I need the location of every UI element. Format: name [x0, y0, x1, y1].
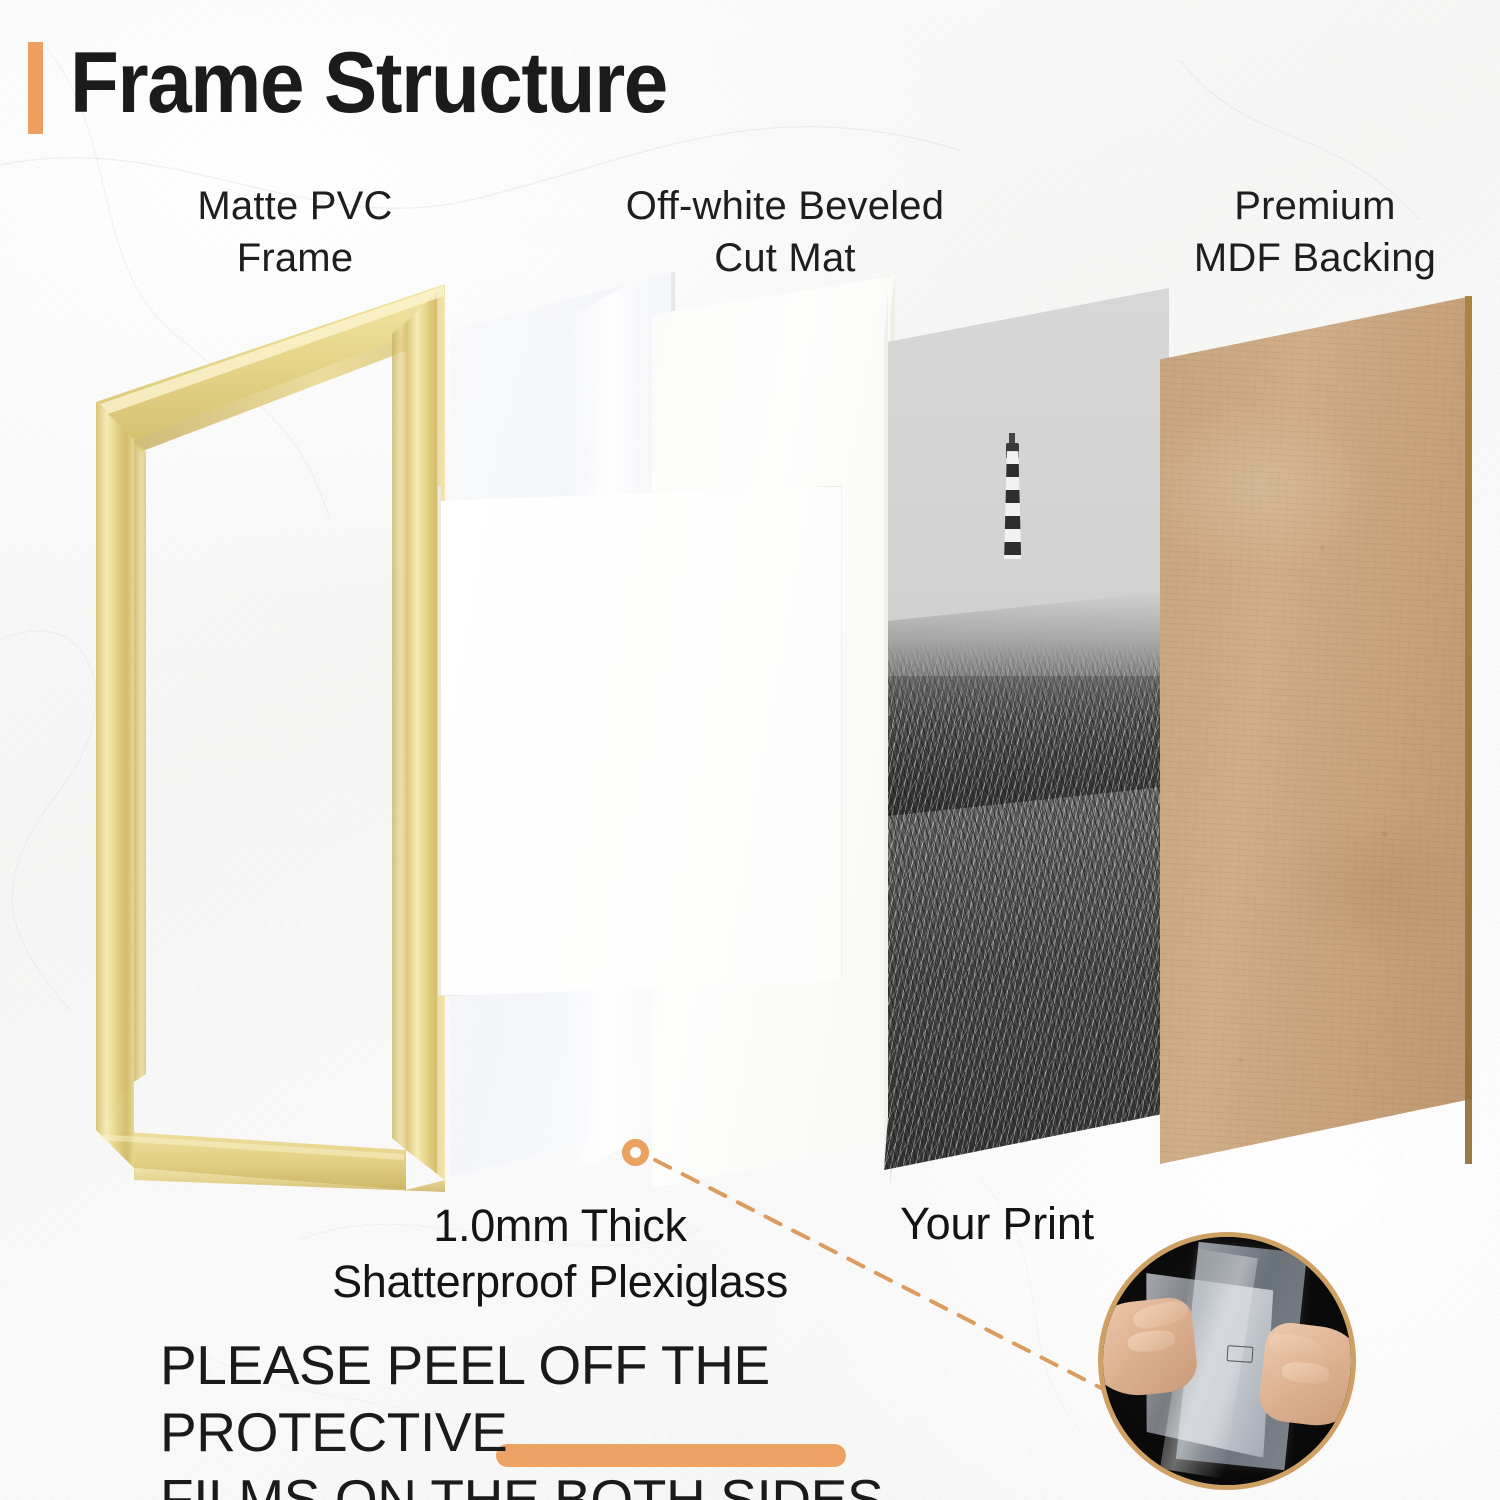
layer-matte-pvc-frame [88, 262, 453, 1202]
gold-frame-illustration [88, 262, 453, 1202]
print-edge [884, 288, 888, 1170]
lighthouse-icon [995, 429, 1029, 559]
infographic-stage: Frame Structure Matte PVC Frame Off-whit… [0, 0, 1500, 1500]
film-warning-label-icon [1226, 1345, 1253, 1363]
caption-shatterproof-plexiglass: 1.0mm Thick Shatterproof Plexiglass [290, 1198, 830, 1311]
layer-mdf-backing [1160, 296, 1472, 1164]
photo-dune-grass [884, 641, 1169, 1170]
caption-off-white-beveled-cut-mat: Off-white Beveled Cut Mat [565, 180, 1005, 284]
caption-premium-mdf-backing: Premium MDF Backing [1120, 180, 1500, 284]
title-accent-bar [28, 42, 43, 134]
banner-line-2: FILMS ON THE BOTH SIDES [160, 1466, 1090, 1500]
layer-your-print [884, 288, 1169, 1170]
layer-beveled-cut-mat [652, 276, 895, 1188]
banner-line-1: PLEASE PEEL OFF THE PROTECTIVE [160, 1332, 1090, 1466]
peel-off-banner: PLEASE PEEL OFF THE PROTECTIVE FILMS ON … [160, 1332, 1090, 1500]
protective-film-photo-inset [1098, 1232, 1356, 1490]
mat-window-opening [438, 486, 841, 997]
mat-bevel-edge [438, 486, 441, 997]
mdf-side-edge [1465, 296, 1472, 1164]
callout-marker-dot [622, 1139, 649, 1166]
print-photograph [884, 288, 1169, 1170]
page-title: Frame Structure [70, 34, 667, 133]
mdf-grain-texture [1160, 296, 1472, 1164]
